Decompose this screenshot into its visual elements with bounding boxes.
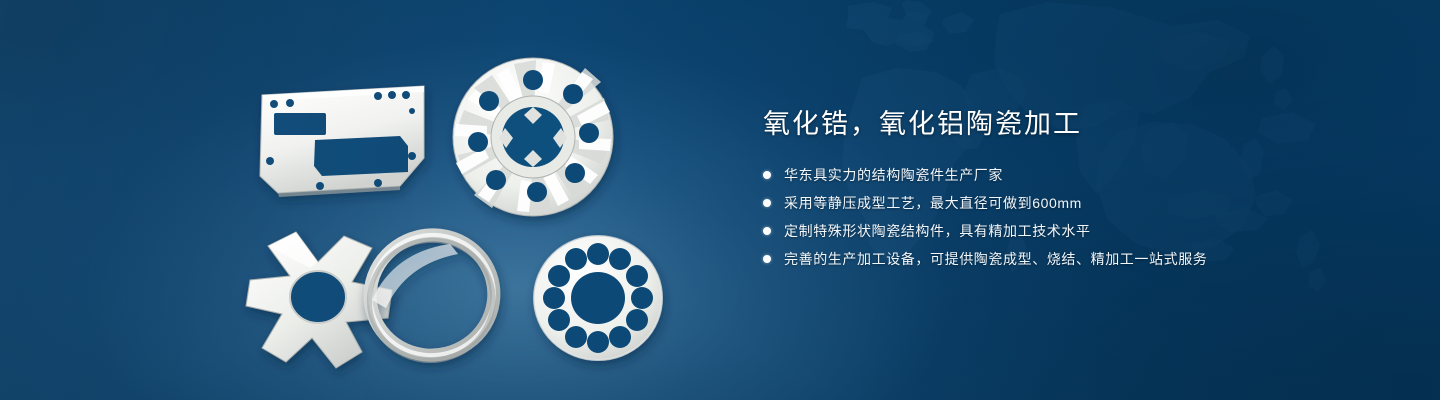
ceramic-impeller xyxy=(453,58,613,216)
feature-item: 完善的生产加工设备，可提供陶瓷成型、烧结、精加工一站式服务 xyxy=(763,250,1403,268)
feature-item: 采用等静压成型工艺，最大直径可做到600mm xyxy=(763,194,1403,212)
banner-copy: 氧化锆，氧化铝陶瓷加工 华东具实力的结构陶瓷件生产厂家 采用等静压成型工艺，最大… xyxy=(763,108,1403,268)
feature-text: 华东具实力的结构陶瓷件生产厂家 xyxy=(784,166,1003,184)
feature-text: 定制特殊形状陶瓷结构件，具有精加工技术水平 xyxy=(784,222,1091,240)
ceramic-perforated-disc xyxy=(534,236,662,360)
product-photo-group xyxy=(0,0,720,400)
feature-item: 定制特殊形状陶瓷结构件，具有精加工技术水平 xyxy=(763,222,1403,240)
feature-item: 华东具实力的结构陶瓷件生产厂家 xyxy=(763,166,1403,184)
banner-headline: 氧化锆，氧化铝陶瓷加工 xyxy=(763,108,1403,140)
feature-text: 完善的生产加工设备，可提供陶瓷成型、烧结、精加工一站式服务 xyxy=(784,250,1207,268)
hero-banner: 氧化锆，氧化铝陶瓷加工 华东具实力的结构陶瓷件生产厂家 采用等静压成型工艺，最大… xyxy=(0,0,1440,400)
ceramic-ring xyxy=(355,222,507,374)
feature-text: 采用等静压成型工艺，最大直径可做到600mm xyxy=(784,194,1082,212)
bullet-icon xyxy=(763,255,771,263)
feature-list: 华东具实力的结构陶瓷件生产厂家 采用等静压成型工艺，最大直径可做到600mm 定… xyxy=(763,166,1403,268)
ceramic-flat-plate xyxy=(260,86,424,197)
bullet-icon xyxy=(763,199,771,207)
bullet-icon xyxy=(763,171,771,179)
bullet-icon xyxy=(763,227,771,235)
